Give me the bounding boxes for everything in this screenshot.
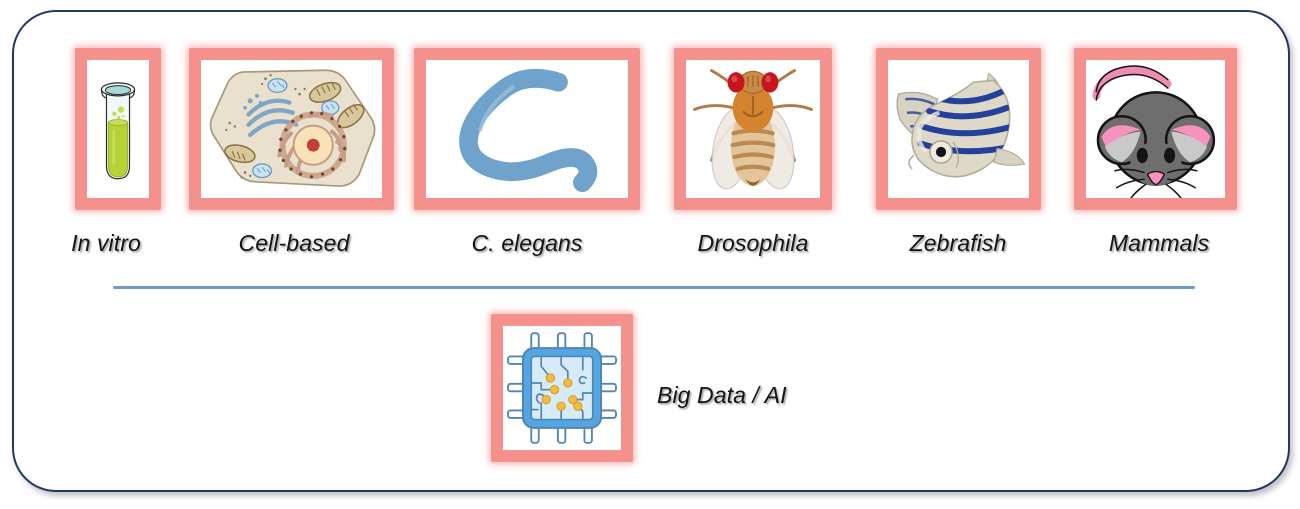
figure-frame: In vitro [12, 10, 1290, 492]
figure-canvas: In vitro [0, 0, 1300, 509]
microchip-icon [503, 326, 621, 450]
panel-cell-based[interactable] [189, 48, 394, 210]
label-drosophila: Drosophila [698, 230, 809, 257]
label-in-vitro: In vitro [71, 230, 141, 257]
zebrafish-icon [888, 60, 1029, 198]
label-mammals: Mammals [1109, 230, 1209, 257]
worm-icon [426, 60, 628, 198]
panel-mammals[interactable] [1074, 48, 1237, 210]
fruit-fly-icon [686, 60, 820, 198]
label-cell-based: Cell-based [239, 230, 350, 257]
animal-cell-icon [201, 60, 382, 198]
label-c-elegans: C. elegans [472, 230, 583, 257]
panel-zebrafish[interactable] [876, 48, 1041, 210]
panel-c-elegans[interactable] [414, 48, 640, 210]
label-zebrafish: Zebrafish [910, 230, 1007, 257]
test-tube-icon [87, 60, 149, 198]
panel-in-vitro[interactable] [75, 48, 161, 210]
mouse-icon [1086, 60, 1225, 198]
label-big-data-ai: Big Data / AI [657, 382, 787, 409]
section-divider [113, 286, 1195, 289]
panel-big-data-ai[interactable] [491, 314, 633, 462]
panel-drosophila[interactable] [674, 48, 832, 210]
